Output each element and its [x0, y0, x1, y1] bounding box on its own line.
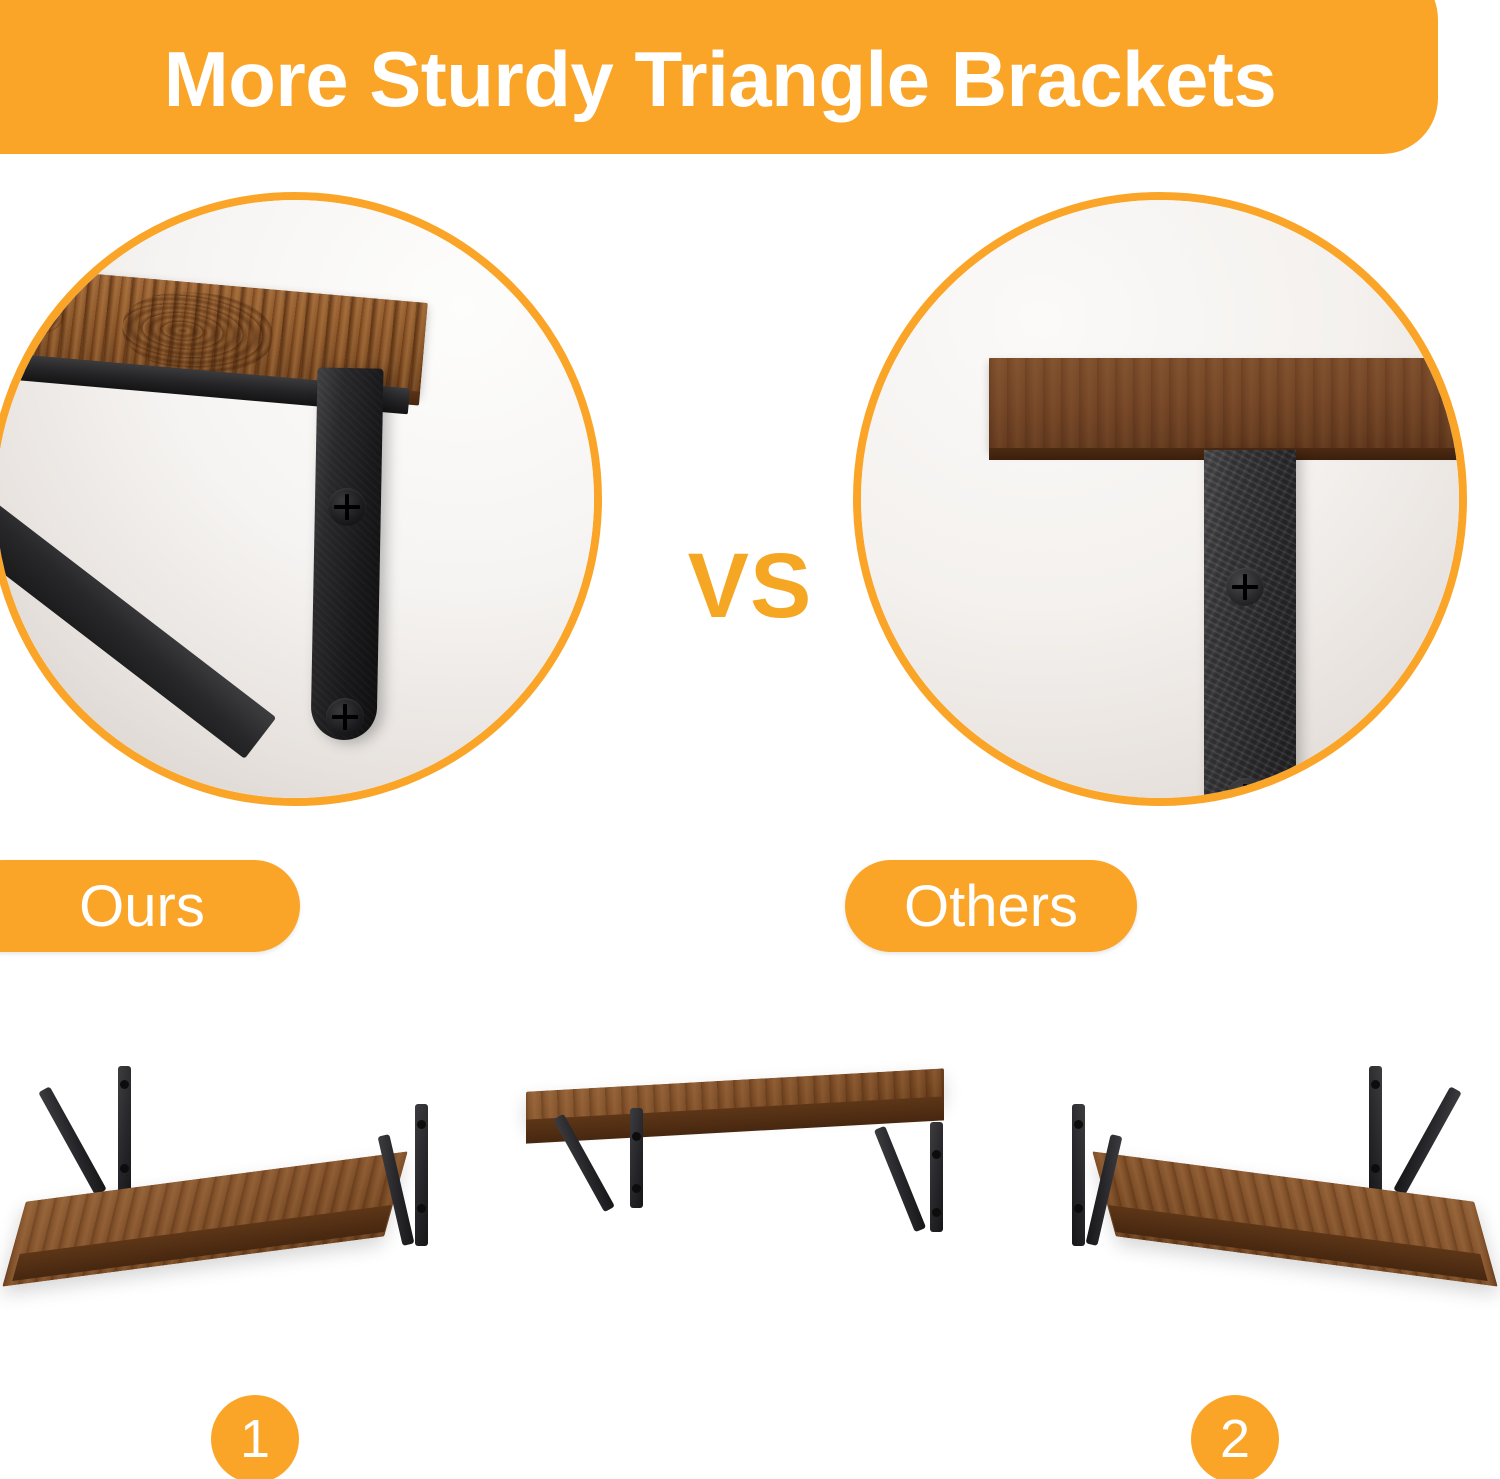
screw-hole-icon: [632, 1184, 641, 1193]
screw-hole-icon: [1371, 1164, 1380, 1173]
shelf-bracket-right-brace: [1393, 1086, 1462, 1196]
product-variant-2: 2: [500, 1030, 1000, 1360]
comparison-section: VS Ours Others: [0, 150, 1500, 1030]
l-bracket-wall-plate: [1204, 450, 1296, 806]
triangle-bracket-wall-plate: [310, 367, 383, 740]
others-badge: Others: [845, 860, 1137, 952]
wood-shelf-board-others: [989, 358, 1467, 450]
shelf-bracket-right: [1369, 1066, 1382, 1206]
product-comparison-image: More Sturdy Triangle Brackets VS: [0, 0, 1500, 1479]
screw-icon: [1226, 568, 1264, 606]
others-photo-circle: [853, 192, 1467, 806]
product-variants-row: 1 2: [0, 1030, 1500, 1479]
shelf-bracket-left: [1072, 1104, 1085, 1246]
screw-hole-icon: [632, 1132, 641, 1141]
header-banner: More Sturdy Triangle Brackets: [0, 0, 1438, 154]
product-number-badge: 2: [1191, 1395, 1279, 1479]
shelf-bracket-left: [118, 1066, 131, 1206]
screw-hole-icon: [1371, 1080, 1380, 1089]
shelf-bracket-left-brace: [38, 1086, 107, 1196]
screw-hole-icon: [1074, 1204, 1083, 1213]
ours-badge: Ours: [0, 860, 300, 952]
screw-hole-icon: [120, 1080, 129, 1089]
wall-background: [861, 200, 1459, 798]
product-variant-3: 3: [1000, 1030, 1500, 1360]
wood-grain-knot-icon: [119, 287, 275, 378]
shelf-bracket-right-brace: [874, 1126, 926, 1232]
page-title: More Sturdy Triangle Brackets: [102, 40, 1277, 146]
product-number-badge: 1: [211, 1395, 299, 1479]
screw-icon: [328, 488, 366, 526]
screw-hole-icon: [417, 1120, 426, 1129]
shelf-bracket-left: [630, 1108, 643, 1208]
screw-hole-icon: [1074, 1120, 1083, 1129]
screw-hole-icon: [932, 1208, 941, 1217]
shelf-bracket-right: [930, 1122, 943, 1232]
wood-grain-knot-icon: [0, 286, 65, 341]
screw-hole-icon: [417, 1204, 426, 1213]
shelf-bracket-right: [415, 1104, 428, 1246]
product-variant-1: 1: [0, 1030, 500, 1360]
screw-hole-icon: [932, 1150, 941, 1159]
ours-photo-circle: [0, 192, 602, 806]
vs-label: VS: [640, 540, 860, 632]
screw-icon: [326, 698, 364, 736]
screw-hole-icon: [120, 1164, 129, 1173]
